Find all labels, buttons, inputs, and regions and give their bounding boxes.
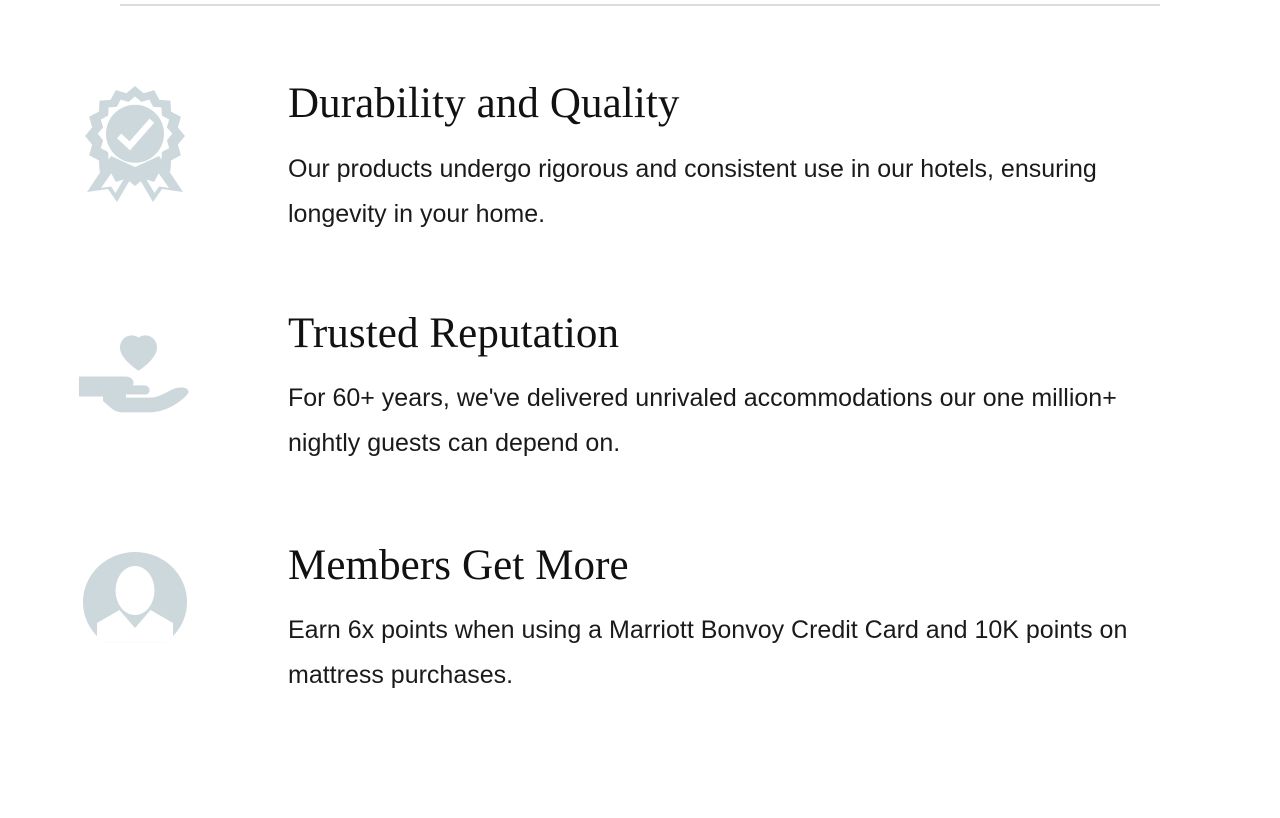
feature-highlights-page: Durability and Quality Our products unde…: [0, 0, 1280, 818]
feature-title: Durability and Quality: [288, 78, 1208, 130]
hand-holding-heart-icon: [75, 312, 195, 432]
feature-text-block: Members Get More Earn 6x points when usi…: [288, 540, 1208, 698]
feature-description: For 60+ years, we've delivered unrivaled…: [288, 360, 1188, 466]
member-avatar-icon: [75, 544, 195, 664]
feature-item: Members Get More Earn 6x points when usi…: [0, 540, 1280, 770]
feature-description: Earn 6x points when using a Marriott Bon…: [288, 592, 1188, 698]
award-badge-check-icon: [75, 82, 195, 202]
feature-title: Members Get More: [288, 540, 1208, 592]
feature-item: Trusted Reputation For 60+ years, we've …: [0, 308, 1280, 538]
feature-description: Our products undergo rigorous and consis…: [288, 130, 1188, 237]
feature-text-block: Trusted Reputation For 60+ years, we've …: [288, 308, 1208, 466]
feature-text-block: Durability and Quality Our products unde…: [288, 78, 1208, 237]
section-divider: [120, 4, 1160, 6]
feature-item: Durability and Quality Our products unde…: [0, 78, 1280, 308]
feature-title: Trusted Reputation: [288, 308, 1208, 360]
